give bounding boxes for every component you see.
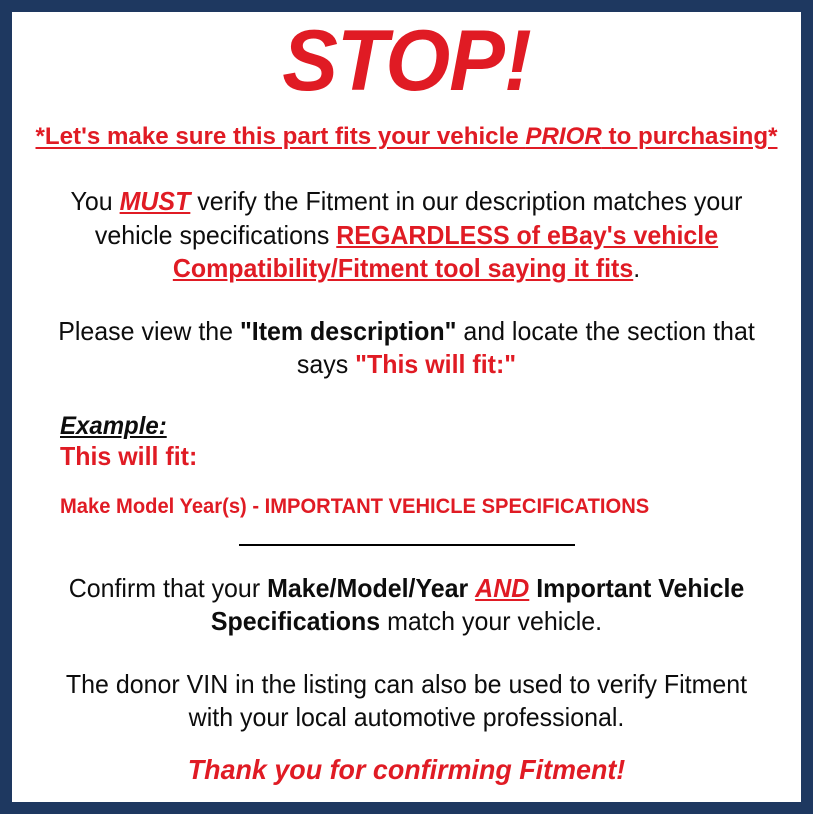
view-text-part1: Please view the: [58, 316, 240, 346]
paragraph-confirm-match: Confirm that your Make/Model/Year AND Im…: [41, 572, 772, 639]
closing-thank-you: Thank you for confirming Fitment!: [41, 753, 772, 787]
confirm-text-part1: Confirm that your: [69, 573, 267, 603]
fitment-notice-card: STOP! *Let's make sure this part fits yo…: [0, 0, 813, 814]
horizontal-divider: [239, 544, 575, 546]
view-item-description-emphasis: "Item description": [240, 316, 456, 346]
confirm-make-model-year-emphasis: Make/Model/Year: [267, 573, 468, 603]
paragraph-must-verify: You MUST verify the Fitment in our descr…: [41, 185, 772, 285]
example-vehicle-spec-line: Make Model Year(s) - IMPORTANT VEHICLE S…: [60, 494, 758, 519]
confirm-space-2: [529, 573, 536, 603]
example-block: Example: This will fit: Make Model Year(…: [26, 412, 787, 520]
divider-wrap: [26, 544, 787, 546]
notice-inner: STOP! *Let's make sure this part fits yo…: [12, 12, 801, 802]
subtitle-tail-text: to purchasing*: [602, 123, 778, 150]
must-emphasis: MUST: [120, 186, 191, 216]
must-text-part3: .: [633, 253, 640, 283]
example-this-will-fit-heading: This will fit:: [60, 442, 758, 472]
must-text-part1: You: [71, 186, 120, 216]
paragraph-view-description: Please view the "Item description" and l…: [41, 315, 772, 382]
example-label: Example:: [60, 412, 167, 441]
subtitle-banner: *Let's make sure this part fits your veh…: [32, 122, 782, 153]
paragraph-donor-vin: The donor VIN in the listing can also be…: [41, 668, 772, 735]
confirm-text-part2: match your vehicle.: [380, 606, 602, 636]
subtitle-emphasis-prior: PRIOR: [525, 123, 601, 150]
confirm-and-emphasis: AND: [475, 573, 529, 603]
page-title: STOP!: [37, 12, 775, 106]
subtitle-lead-text: *Let's make sure this part fits your veh…: [35, 123, 525, 150]
view-this-will-fit-emphasis: "This will fit:": [355, 349, 516, 379]
